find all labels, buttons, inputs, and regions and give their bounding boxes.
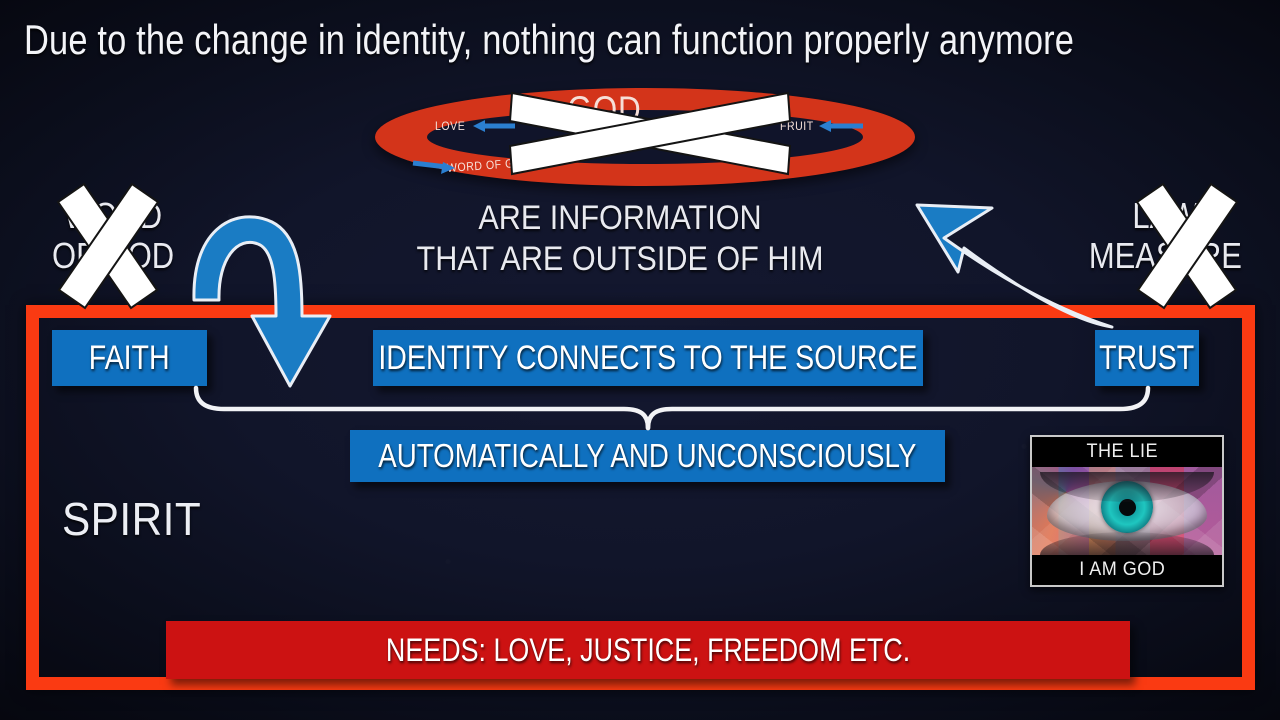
needs-bar: NEEDS: LOVE, JUSTICE, FREEDOM ETC.	[166, 621, 1130, 679]
box-trust[interactable]: TRUST	[1095, 330, 1199, 386]
the-lie-caption: I AM GOD	[1032, 555, 1213, 585]
the-lie-title: THE LIE	[1032, 437, 1213, 467]
slide-canvas: Due to the change in identity, nothing c…	[0, 0, 1280, 720]
box-faith-label: FAITH	[89, 339, 170, 378]
the-lie-card[interactable]: THE LIE I AM GOD	[1030, 435, 1224, 587]
needs-bar-label: NEEDS: LOVE, JUSTICE, FREEDOM ETC.	[386, 632, 910, 669]
label-measure-line2: MEASURE	[1088, 236, 1243, 276]
label-word-of-god: WORD OF GOD	[40, 196, 186, 277]
box-faith[interactable]: FAITH	[52, 330, 207, 386]
ring-arrows-group	[375, 88, 915, 186]
spirit-label: SPIRIT	[62, 492, 201, 546]
page-title: Due to the change in identity, nothing c…	[24, 18, 1033, 62]
box-identity-label: IDENTITY CONNECTS TO THE SOURCE	[378, 339, 917, 378]
box-automatic-label: AUTOMATICALLY AND UNCONSCIOUSLY	[378, 437, 916, 475]
label-law-line1: LAW	[1088, 196, 1243, 236]
box-trust-label: TRUST	[1099, 339, 1194, 378]
ring-arrow-fruit	[819, 120, 863, 132]
label-word-of-god-line1: WORD	[40, 196, 186, 236]
box-automatically-unconsciously[interactable]: AUTOMATICALLY AND UNCONSCIOUSLY	[350, 430, 945, 482]
center-statement-line2: THAT ARE OUTSIDE OF HIM	[350, 239, 890, 280]
ring-arrow-love	[473, 120, 515, 132]
box-identity-connects[interactable]: IDENTITY CONNECTS TO THE SOURCE	[373, 330, 923, 386]
god-cycle-diagram: GOD LOVE FRUIT WORD OF GOD	[375, 88, 915, 186]
center-statement-line1: ARE INFORMATION	[350, 198, 890, 239]
ring-arrow-word-of-god	[413, 162, 455, 174]
polygonal-eye-image	[1032, 467, 1222, 555]
label-word-of-god-line2: OF GOD	[40, 236, 186, 276]
label-law-measure: LAW MEASURE	[1088, 196, 1243, 277]
center-statement: ARE INFORMATION THAT ARE OUTSIDE OF HIM	[350, 198, 890, 281]
